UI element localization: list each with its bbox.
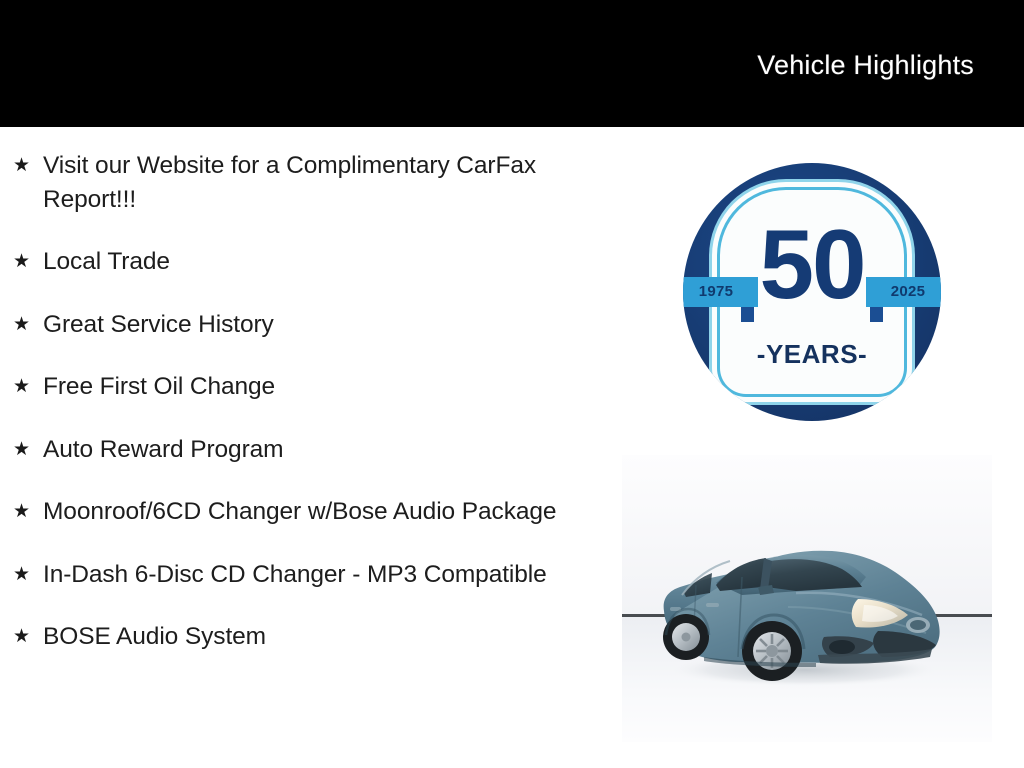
list-item: ★ Visit our Website for a Complimentary … <box>0 149 600 216</box>
highlight-text: In-Dash 6-Disc CD Changer - MP3 Compatib… <box>43 558 600 592</box>
star-icon: ★ <box>13 620 43 653</box>
highlight-text: Local Trade <box>43 245 600 279</box>
star-icon: ★ <box>13 558 43 591</box>
badge-year-end: 2025 <box>866 277 941 307</box>
anniversary-badge: 50 -YEARS- 1975 2025 <box>683 163 941 421</box>
page-title: Vehicle Highlights <box>757 50 974 81</box>
highlight-text: Auto Reward Program <box>43 433 600 467</box>
list-item: ★ Free First Oil Change <box>0 370 600 404</box>
list-item: ★ BOSE Audio System <box>0 620 600 654</box>
highlight-text: BOSE Audio System <box>43 620 600 654</box>
highlight-text: Free First Oil Change <box>43 370 600 404</box>
badge-year-start: 1975 <box>683 277 758 307</box>
content-area: ★ Visit our Website for a Complimentary … <box>0 127 1024 768</box>
badge-circle: 50 -YEARS- 1975 2025 <box>683 163 941 421</box>
list-item: ★ Auto Reward Program <box>0 433 600 467</box>
car-illustration <box>646 507 956 692</box>
list-item: ★ Moonroof/6CD Changer w/Bose Audio Pack… <box>0 495 600 529</box>
right-column: 50 -YEARS- 1975 2025 <box>600 127 1024 768</box>
star-icon: ★ <box>13 370 43 403</box>
header-bar: Vehicle Highlights <box>0 0 1024 127</box>
star-icon: ★ <box>13 495 43 528</box>
vehicle-photo[interactable] <box>622 455 992 742</box>
vehicle-highlights-list: ★ Visit our Website for a Complimentary … <box>0 127 600 654</box>
highlight-text: Visit our Website for a Complimentary Ca… <box>43 149 600 216</box>
star-icon: ★ <box>13 308 43 341</box>
list-item: ★ In-Dash 6-Disc CD Changer - MP3 Compat… <box>0 558 600 592</box>
star-icon: ★ <box>13 149 43 182</box>
star-icon: ★ <box>13 245 43 278</box>
highlight-text: Great Service History <box>43 308 600 342</box>
list-item: ★ Great Service History <box>0 308 600 342</box>
badge-years-label: -YEARS- <box>683 341 941 367</box>
star-icon: ★ <box>13 433 43 466</box>
highlight-text: Moonroof/6CD Changer w/Bose Audio Packag… <box>43 495 600 529</box>
list-item: ★ Local Trade <box>0 245 600 279</box>
